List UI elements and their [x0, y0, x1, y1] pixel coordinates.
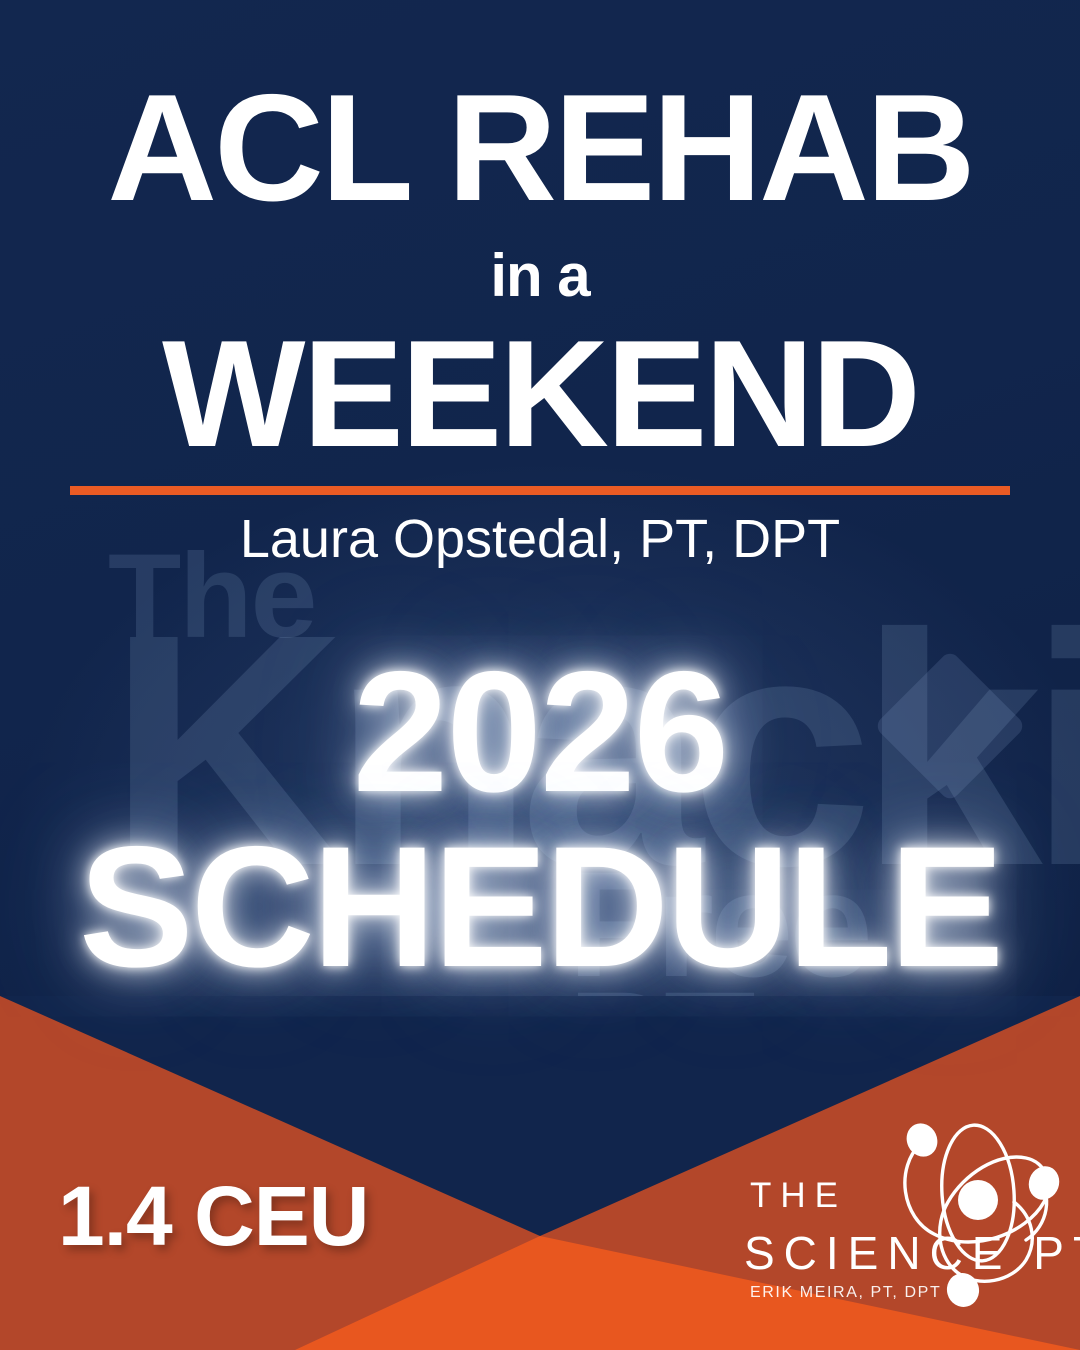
title-line-weekend: WEEKEND — [0, 318, 1080, 470]
title-line-acl-rehab: ACL REHAB — [0, 72, 1080, 224]
feature-schedule: SCHEDULE — [0, 823, 1080, 992]
presenter-name: Laura Opstedal, PT, DPT — [0, 508, 1080, 570]
logo-byline: ERIK MEIRA, PT, DPT — [750, 1284, 941, 1302]
feature-block: 2026 SCHEDULE — [0, 648, 1080, 991]
orange-divider — [70, 486, 1010, 495]
logo-the: THE — [750, 1176, 847, 1216]
title-line-in-a: in a — [0, 246, 1080, 306]
poster-canvas: The Knacki Free PT ACL REHAB in a WEEKEN… — [0, 0, 1080, 1350]
logo-science-pt: SCIENCE PT — [744, 1226, 1080, 1280]
headline-block: ACL REHAB in a WEEKEND — [0, 0, 1080, 470]
logo-wordmark: THE SCIENCE PT ERIK MEIRA, PT, DPT — [736, 1098, 1056, 1323]
ceu-badge: 1.4 CEU — [58, 1168, 368, 1265]
feature-year: 2026 — [0, 648, 1080, 817]
brand-logo[interactable]: THE SCIENCE PT ERIK MEIRA, PT, DPT — [736, 1098, 1056, 1323]
